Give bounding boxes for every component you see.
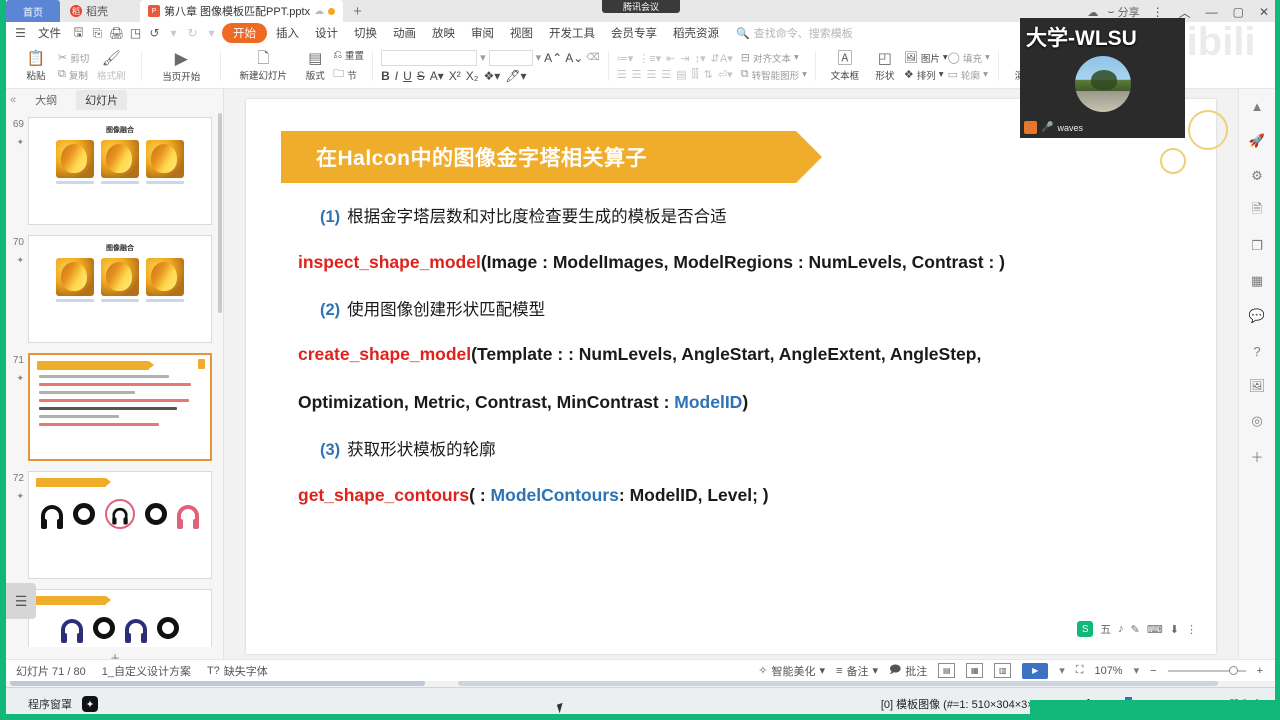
- gear-icon: [93, 617, 115, 639]
- bullets-icon[interactable]: ≔▾: [617, 52, 634, 65]
- slide-thumbnail-70[interactable]: 图像融合: [28, 235, 212, 343]
- thumb-index: 71: [13, 355, 24, 366]
- fit-slide-icon: ⛶: [1076, 664, 1084, 677]
- highlight-icon[interactable]: 🖊▾: [505, 69, 526, 83]
- copy-label: 复制: [69, 68, 88, 82]
- picture-icon: 🖼: [904, 51, 918, 64]
- start-from-current-button[interactable]: ▶ 当页开始: [150, 45, 212, 88]
- save-icon[interactable]: 🖫: [70, 25, 87, 42]
- thumb-title: 图像融合: [29, 243, 211, 253]
- animation-star-icon: ✦: [6, 373, 24, 384]
- ribbon-group-start-show: ▶ 当页开始: [146, 44, 216, 89]
- plus-icon[interactable]: ＋: [1246, 445, 1268, 467]
- thumbnail-pane-header: « 大纲 幻灯片: [6, 89, 223, 111]
- window-edge-left: [0, 0, 6, 720]
- cloud-status[interactable]: ☁: [1087, 6, 1098, 19]
- list-item[interactable]: 69 ✦ 图像融合: [6, 117, 224, 225]
- line-break-icon[interactable]: ⏎▾: [718, 68, 733, 81]
- code-line-get-shape-contours[interactable]: get_shape_contours( : ModelContours: Mod…: [298, 485, 1186, 507]
- decorative-ring: [1160, 148, 1186, 174]
- tab-file-label: 第八章 图像模板匹配PPT.pptx: [164, 3, 310, 19]
- slide-canvas-area: 在Halcon中的图像金字塔相关算子 (1)根据金字塔层数和对比度检查要生成的模…: [224, 89, 1238, 671]
- unsaved-dot-icon: [328, 8, 335, 15]
- list-item[interactable]: 73 ✦: [6, 589, 224, 647]
- thumb-captions: [29, 299, 211, 302]
- ribbon-group-clipboard: 📋 粘贴 ✂剪切 ⧉复制 🖌 格式刷: [10, 44, 137, 89]
- headphone-icon-red: [177, 505, 199, 523]
- view-reading-icon[interactable]: ▥: [994, 663, 1011, 678]
- font-name-dropdown-icon[interactable]: ▾: [480, 51, 486, 64]
- zoom-level-label[interactable]: 107%: [1094, 665, 1122, 677]
- slide-counter[interactable]: 幻灯片 71 / 80: [16, 663, 86, 679]
- layout-icon: ▤: [308, 51, 322, 66]
- paste-button[interactable]: 📋 粘贴: [14, 45, 58, 88]
- tab-slides[interactable]: 幻灯片: [76, 90, 127, 110]
- status-bar: 幻灯片 71 / 80 1_自定义设计方案 T? 缺失字体 ✧智能美化▾ ≡备注…: [6, 659, 1275, 681]
- fill-outline-group: ◯填充▾ ▭轮廓▾: [948, 51, 990, 82]
- thumbnail-scrollbar[interactable]: [218, 113, 222, 313]
- shape-button[interactable]: ◰ 形状: [866, 45, 904, 88]
- slide-thumbnail-71-selected[interactable]: [28, 353, 212, 461]
- headphone-icon: [41, 505, 63, 523]
- redo-icon[interactable]: ↻: [184, 25, 201, 42]
- numbering-icon[interactable]: ⋮≡▾: [638, 52, 661, 65]
- ime-keyboard-icon[interactable]: ⌨: [1147, 623, 1163, 636]
- thumb-banner: [36, 478, 106, 487]
- shrink-font-icon[interactable]: A⌄: [565, 51, 583, 65]
- reset-label: 重置: [345, 48, 364, 62]
- minimize-button[interactable]: —: [1203, 5, 1221, 19]
- sort-icon[interactable]: ⇵A▾: [711, 52, 733, 65]
- ribbon-separator-5: [815, 51, 816, 81]
- tab-outline[interactable]: 大纲: [26, 90, 66, 110]
- decrease-indent-icon[interactable]: ⇤: [666, 52, 675, 65]
- slide-title-banner[interactable]: 在Halcon中的图像金字塔相关算子: [281, 131, 796, 183]
- ime-download-icon[interactable]: ⬇: [1170, 623, 1179, 636]
- status-bar-left: 幻灯片 71 / 80 1_自定义设计方案 T? 缺失字体: [6, 663, 268, 679]
- print-preview-icon[interactable]: ◳: [127, 25, 144, 42]
- superscript-icon[interactable]: X²: [449, 69, 461, 83]
- decorative-ring: [1188, 110, 1228, 150]
- fit-slide-button[interactable]: ⛶: [1076, 664, 1084, 677]
- thumbnail-list[interactable]: 69 ✦ 图像融合 70 ✦: [6, 111, 224, 647]
- shape-label: 形状: [875, 68, 894, 82]
- outline-button[interactable]: ▭轮廓▾: [948, 68, 990, 82]
- beautify-icon: ✧: [758, 664, 767, 677]
- smartart-label: 转智能图形: [752, 68, 800, 82]
- zoom-in-button[interactable]: +: [1257, 665, 1263, 677]
- animation-star-icon: ✦: [6, 137, 24, 148]
- comment-icon: 🗩: [889, 661, 901, 680]
- menu-tab-start[interactable]: 开始: [222, 23, 267, 43]
- thumb-banner: [36, 596, 106, 605]
- scroll-up-icon[interactable]: ▲: [1246, 95, 1268, 117]
- menu-tab-docer-resources[interactable]: 稻壳资源: [666, 23, 726, 43]
- layers-icon[interactable]: ❐: [1246, 235, 1268, 257]
- bullet-line-3[interactable]: (3)获取形状模板的轮廓: [298, 440, 1186, 461]
- align-right-icon[interactable]: ☰: [646, 68, 656, 81]
- bullet-line-1[interactable]: (1)根据金字塔层数和对比度检查要生成的模板是否合适: [298, 207, 1186, 228]
- code-line-create-shape-model[interactable]: create_shape_model(Template : : NumLevel…: [298, 344, 1186, 366]
- mango-image-icon: [146, 140, 184, 178]
- play-circle-icon: ▶: [175, 50, 188, 67]
- function-args-pre: ( :: [469, 485, 490, 505]
- comment-icon[interactable]: 💬: [1246, 305, 1268, 327]
- font-row-bottom: B I U S A▾ X² X₂ ❖▾ 🖊▾: [381, 69, 600, 83]
- ime-toolbar[interactable]: S 五 ♪ ✎ ⌨ ⬇ ⋮: [1072, 618, 1202, 640]
- ribbon-group-slides: 🗋 新建幻灯片 ▤ 版式 ⎌重置 🗀节: [225, 44, 368, 89]
- close-button[interactable]: ✕: [1256, 5, 1272, 19]
- tab-document-file[interactable]: P 第八章 图像模板匹配PPT.pptx ☁: [140, 0, 343, 22]
- align-text-icon: ⊟: [741, 51, 750, 64]
- notes-label: 备注: [846, 663, 868, 679]
- mango-image-icon: [101, 140, 139, 178]
- menu-tab-insert[interactable]: 插入: [269, 23, 306, 43]
- ribbon-separator-2: [220, 51, 221, 81]
- notes-panel-toggle[interactable]: ☰: [6, 583, 36, 619]
- mango-image-icon: [56, 140, 94, 178]
- search-icon: 🔍: [736, 27, 750, 40]
- clear-format-icon[interactable]: ⌫: [586, 52, 599, 63]
- paragraph-row-bottom: ☰ ☰ ☰ ☰ ▤ ⫿⫿ ⇅ ⏎▾: [617, 68, 733, 81]
- thumb-logo-icon: [198, 359, 205, 369]
- more-options-icon[interactable]: ⋮: [1149, 5, 1167, 19]
- reset-button[interactable]: ⎌重置: [333, 48, 364, 62]
- align-text-group: ⊟对齐文本▾ ⧉转智能图形▾: [741, 51, 807, 82]
- shape-icon: ◰: [878, 51, 892, 66]
- undo-icon[interactable]: ↺: [146, 25, 163, 42]
- distribute-icon[interactable]: ▤: [676, 68, 686, 81]
- right-tool-rail: ▲ 🚀 ⚙ 🗎 ❐ ▦ 💬 ? 🖼 ◎ ＋: [1238, 89, 1275, 671]
- slide-thumbnail-73[interactable]: [28, 589, 212, 647]
- ribbon-group-font: ▾ ▾ A⌃ A⌄ ⌫ B I U S A▾ X² X₂ ❖▾ 🖊▾: [377, 44, 604, 89]
- missing-font-button[interactable]: T? 缺失字体: [207, 663, 268, 679]
- fill-icon: ◯: [948, 51, 960, 64]
- table-icon[interactable]: ▦: [1246, 270, 1268, 292]
- gear-icon: [73, 503, 95, 525]
- menu-file[interactable]: 文件: [31, 23, 68, 43]
- increase-indent-icon[interactable]: ⇥: [680, 52, 689, 65]
- thumb-number-70: 70 ✦: [6, 235, 28, 266]
- arrange-button[interactable]: ❖排列▾: [904, 68, 948, 82]
- meeting-indicator[interactable]: 腾讯会议: [602, 0, 680, 13]
- animation-star-icon: ✦: [6, 255, 24, 266]
- outline-icon: ▭: [948, 68, 958, 81]
- function-args: (Template : : NumLevels, AngleStart, Ang…: [471, 344, 981, 364]
- view-sorter-icon[interactable]: ▦: [966, 663, 983, 678]
- bullet-number: (1): [320, 208, 340, 226]
- copy-button[interactable]: ⧉复制: [58, 68, 89, 82]
- thumb-number-69: 69 ✦: [6, 117, 28, 148]
- thumb-captions: [29, 181, 211, 184]
- headphone-icon-blue: [61, 619, 83, 637]
- new-slide-icon: 🗋: [257, 51, 269, 66]
- fill-label: 填充: [963, 51, 982, 65]
- font-controls: ▾ ▾ A⌃ A⌄ ⌫ B I U S A▾ X² X₂ ❖▾ 🖊▾: [381, 50, 600, 83]
- grow-font-icon[interactable]: A⌃: [544, 51, 562, 65]
- function-name: inspect_shape_model: [298, 252, 481, 272]
- notes-button[interactable]: ≡备注▾: [836, 663, 878, 679]
- new-slide-label: 新建幻灯片: [239, 68, 287, 82]
- program-window-label[interactable]: 程序窗罩: [14, 696, 72, 712]
- zoom-slider-knob[interactable]: [1229, 666, 1238, 675]
- menu-tab-animation[interactable]: 动画: [386, 23, 423, 43]
- tab-docer-label: 稻壳: [86, 3, 108, 19]
- thumb-icon-row: [29, 617, 211, 639]
- tab-home-label: 首页: [23, 4, 43, 19]
- ime-pen-icon[interactable]: ✎: [1131, 623, 1140, 636]
- participant-badge-icon: [1024, 121, 1037, 134]
- thumb-images: [29, 140, 211, 178]
- ribbon-separator-6: [998, 51, 999, 81]
- menu-hamburger-icon[interactable]: ☰: [12, 25, 29, 42]
- bullet-number: (3): [320, 441, 340, 459]
- menu-tab-transition[interactable]: 切换: [347, 23, 384, 43]
- new-tab-button[interactable]: +: [343, 3, 372, 22]
- character-shading-icon[interactable]: ❖▾: [483, 69, 500, 83]
- section-reset-group: ⎌重置 🗀节: [333, 48, 364, 84]
- menu-tab-slideshow[interactable]: 放映: [425, 23, 462, 43]
- align-text-label: 对齐文本: [753, 51, 791, 65]
- format-painter-icon: 🖌: [102, 51, 121, 66]
- video-call-overlay[interactable]: 大学-WLSU 🎤 waves: [1020, 18, 1185, 138]
- ribbon-group-paragraph: ≔▾ ⋮≡▾ ⇤ ⇥ ↕▾ ⇵A▾ ☰ ☰ ☰ ☰ ▤ ⫿⫿ ⇅ ⏎▾: [613, 44, 811, 89]
- function-args-post: ): [742, 392, 748, 412]
- microphone-icon[interactable]: 🎤: [1041, 122, 1053, 133]
- thumb-images: [29, 258, 211, 296]
- zoom-out-button[interactable]: −: [1150, 665, 1156, 677]
- cut-icon: ✂: [58, 51, 67, 64]
- align-center-icon[interactable]: ☰: [632, 68, 642, 81]
- sogou-logo-icon: S: [1077, 621, 1093, 637]
- collapse-pane-icon[interactable]: «: [10, 94, 16, 106]
- new-slide-button[interactable]: 🗋 新建幻灯片: [229, 45, 297, 88]
- function-args-pre: Optimization, Metric, Contrast, MinContr…: [298, 392, 674, 412]
- layout-button[interactable]: ▤ 版式: [297, 45, 333, 88]
- bullet-text: 根据金字塔层数和对比度检查要生成的模板是否合适: [347, 208, 727, 226]
- copy-icon: ⧉: [58, 68, 66, 81]
- notes-icon: ≡: [836, 665, 842, 677]
- halcon-logo-icon: [82, 696, 98, 712]
- align-left-icon[interactable]: ☰: [617, 68, 627, 81]
- save-as-icon[interactable]: ⎘: [89, 25, 106, 42]
- video-participant-title: 大学-WLSU: [1020, 22, 1185, 52]
- thumb-index: 69: [13, 119, 24, 130]
- thumb-number-71: 71 ✦: [6, 353, 28, 384]
- function-name: get_shape_contours: [298, 485, 469, 505]
- help-icon[interactable]: ?: [1246, 340, 1268, 362]
- clipboard-small-buttons: ✂剪切 ⧉复制: [58, 51, 89, 82]
- thumb-index: 72: [13, 473, 24, 484]
- video-footer: 🎤 waves: [1024, 121, 1083, 134]
- rocket-icon[interactable]: 🚀: [1246, 130, 1268, 152]
- thumb-title: 图像融合: [29, 125, 211, 135]
- layout-label: 版式: [306, 68, 325, 82]
- align-text-button[interactable]: ⊟对齐文本▾: [741, 51, 807, 65]
- tab-docer[interactable]: 稻 稻壳: [60, 0, 118, 22]
- columns-icon[interactable]: ⫿⫿: [692, 68, 699, 81]
- font-size-dropdown-icon[interactable]: ▾: [536, 51, 542, 64]
- arrange-label: 排列: [917, 68, 936, 82]
- video-user-name: waves: [1057, 123, 1083, 133]
- line-spacing-icon[interactable]: ↕▾: [695, 52, 706, 65]
- gear-icon: [145, 503, 167, 525]
- thumb-icon-row: [29, 499, 211, 529]
- arrange-icon: ❖: [904, 68, 914, 81]
- view-normal-icon[interactable]: ▤: [938, 663, 955, 678]
- search-placeholder: 查找命令、搜索模板: [754, 25, 853, 41]
- missing-font-label: 缺失字体: [224, 663, 268, 679]
- paste-icon: 📋: [27, 51, 46, 66]
- page-title: 在Halcon中的图像金字塔相关算子: [316, 142, 647, 172]
- gear-icon: [157, 617, 179, 639]
- strikethrough-icon[interactable]: S: [417, 69, 425, 83]
- play-dropdown-icon[interactable]: ▾: [1059, 664, 1065, 677]
- bullet-text: 使用图像创建形状匹配模型: [347, 301, 545, 319]
- text-color-icon[interactable]: A▾: [430, 69, 444, 83]
- font-name-input[interactable]: [381, 50, 477, 66]
- slide-thumbnail-69[interactable]: 图像融合: [28, 117, 212, 225]
- command-search-box[interactable]: 🔍 查找命令、搜索模板: [736, 25, 853, 41]
- animation-star-icon: ✦: [6, 491, 24, 502]
- cut-button[interactable]: ✂剪切: [58, 51, 89, 65]
- function-args-post: : ModelID, Level; ): [619, 485, 769, 505]
- status-bar-right: ✧智能美化▾ ≡备注▾ 🗩批注 ▤ ▦ ▥ ▶ ▾ ⛶ 107% ▾ − +: [758, 661, 1275, 680]
- pptx-file-icon: P: [148, 5, 160, 17]
- mango-image-icon: [101, 258, 139, 296]
- format-painter-label: 格式刷: [97, 68, 126, 82]
- comments-button[interactable]: 🗩批注: [889, 661, 927, 680]
- ribbon-separator-3: [372, 51, 373, 81]
- reset-icon: ⎌: [333, 49, 342, 62]
- comments-label: 批注: [905, 663, 927, 679]
- image-icon[interactable]: 🖼: [1246, 375, 1268, 397]
- ribbon-group-insert: 🄰 文本框 ◰ 形状 🖼图片▾ ❖排列▾ ◯填充▾ ▭轮廓▾: [820, 44, 994, 89]
- target-icon[interactable]: ◎: [1246, 410, 1268, 432]
- section-icon: 🗀: [333, 65, 344, 84]
- slide-body: (1)根据金字塔层数和对比度检查要生成的模板是否合适 inspect_shape…: [276, 207, 1186, 506]
- slide-thumbnail-72[interactable]: [28, 471, 212, 579]
- picture-label: 图片: [921, 51, 940, 65]
- output-param-modelid: ModelID: [674, 392, 742, 412]
- halcon-strip-left: 程序窗罩: [0, 696, 98, 712]
- text-box-label: 文本框: [831, 68, 860, 82]
- ime-more-icon[interactable]: ⋮: [1186, 623, 1197, 636]
- list-item[interactable]: 71 ✦: [6, 353, 224, 461]
- italic-icon[interactable]: I: [395, 69, 398, 83]
- maximize-button[interactable]: ▢: [1230, 5, 1247, 19]
- font-row-top: ▾ ▾ A⌃ A⌄ ⌫: [381, 50, 600, 66]
- menu-tab-review[interactable]: 审阅: [464, 23, 501, 43]
- text-box-button[interactable]: 🄰 文本框: [824, 45, 866, 88]
- print-icon[interactable]: 🖨: [108, 25, 125, 42]
- wps-presentation-window: 首页 稻 稻壳 P 第八章 图像模板匹配PPT.pptx ☁ + ☁ ⌣ 分享 …: [0, 0, 1280, 720]
- paste-label: 粘贴: [26, 68, 45, 82]
- ime-music-icon[interactable]: ♪: [1118, 623, 1124, 635]
- headphone-icon: [112, 508, 127, 521]
- menu-tab-developer[interactable]: 开发工具: [542, 23, 602, 43]
- ribbon-separator-4: [608, 51, 609, 81]
- menu-tab-design[interactable]: 设计: [308, 23, 345, 43]
- justify-icon[interactable]: ☰: [661, 68, 671, 81]
- start-from-current-label: 当页开始: [162, 69, 200, 83]
- play-slideshow-button[interactable]: ▶: [1022, 663, 1048, 679]
- font-warning-icon: T?: [207, 665, 220, 677]
- text-box-icon: 🄰: [837, 51, 852, 66]
- mango-image-icon: [146, 258, 184, 296]
- ime-mode-label[interactable]: 五: [1100, 621, 1111, 637]
- underline-icon[interactable]: U: [403, 69, 412, 83]
- slide-thumbnail-pane: « 大纲 幻灯片 69 ✦ 图像融合: [6, 89, 224, 671]
- function-args: (Image : ModelImages, ModelRegions : Num…: [481, 252, 1005, 272]
- docer-icon: 稻: [70, 5, 82, 17]
- section-label: 节: [347, 68, 357, 82]
- smartart-icon: ⧉: [741, 68, 749, 81]
- menu-tab-member[interactable]: 会员专享: [604, 23, 664, 43]
- menu-tab-view[interactable]: 视图: [503, 23, 540, 43]
- match-ring-icon: [105, 499, 135, 529]
- headphone-icon-blue: [125, 619, 147, 637]
- settings-slider-icon[interactable]: ⚙: [1246, 165, 1268, 187]
- undo-dropdown-icon[interactable]: ▾: [165, 25, 182, 42]
- thumb-index: 70: [13, 237, 24, 248]
- design-scheme-label[interactable]: 1_自定义设计方案: [102, 663, 191, 679]
- code-line-inspect-shape-model[interactable]: inspect_shape_model(Image : ModelImages,…: [298, 252, 1186, 274]
- cut-label: 剪切: [70, 51, 89, 65]
- bullet-text: 获取形状模板的轮廓: [347, 441, 496, 459]
- bold-icon[interactable]: B: [381, 69, 390, 83]
- window-edge-bottom: [0, 714, 1280, 720]
- cloud-sync-icon[interactable]: ☁: [314, 6, 324, 17]
- code-line-create-shape-model-cont[interactable]: Optimization, Metric, Contrast, MinContr…: [298, 392, 1186, 414]
- section-button[interactable]: 🗀节: [333, 65, 364, 84]
- output-param-modelcontours: ModelContours: [491, 485, 619, 505]
- thumb-number-72: 72 ✦: [6, 471, 28, 502]
- list-item[interactable]: 72 ✦: [6, 471, 224, 579]
- zoom-slider[interactable]: [1168, 670, 1246, 672]
- ribbon-separator: [141, 51, 142, 81]
- smartart-button[interactable]: ⧉转智能图形▾: [741, 68, 807, 82]
- thumb-banner: [37, 361, 149, 370]
- font-size-input[interactable]: [489, 50, 533, 66]
- beautify-label: 智能美化: [772, 663, 816, 679]
- tab-home[interactable]: 首页: [6, 0, 60, 22]
- picture-button[interactable]: 🖼图片▾: [904, 51, 948, 65]
- paragraph-row-top: ≔▾ ⋮≡▾ ⇤ ⇥ ↕▾ ⇵A▾: [617, 52, 733, 65]
- bullet-number: (2): [320, 301, 340, 319]
- fill-button[interactable]: ◯填充▾: [948, 51, 990, 65]
- customize-quick-access-icon[interactable]: ▾: [203, 25, 220, 42]
- mango-image-icon: [56, 258, 94, 296]
- picture-fill-group: 🖼图片▾ ❖排列▾: [904, 51, 948, 82]
- outline-label: 轮廓: [961, 68, 980, 82]
- avatar: [1075, 56, 1131, 112]
- zoom-dropdown-icon[interactable]: ▾: [1134, 664, 1140, 677]
- bullet-line-2[interactable]: (2)使用图像创建形状匹配模型: [298, 300, 1186, 321]
- format-painter-button[interactable]: 🖌 格式刷: [89, 45, 133, 88]
- list-item[interactable]: 70 ✦ 图像融合: [6, 235, 224, 343]
- document-icon[interactable]: 🗎: [1246, 200, 1268, 222]
- slide-editor[interactable]: 在Halcon中的图像金字塔相关算子 (1)根据金字塔层数和对比度检查要生成的模…: [246, 99, 1216, 654]
- paragraph-controls: ≔▾ ⋮≡▾ ⇤ ⇥ ↕▾ ⇵A▾ ☰ ☰ ☰ ☰ ▤ ⫿⫿ ⇅ ⏎▾: [617, 52, 733, 81]
- function-name: create_shape_model: [298, 344, 471, 364]
- text-direction-icon[interactable]: ⇅: [704, 68, 713, 81]
- window-edge-right: [1275, 0, 1280, 700]
- beautify-button[interactable]: ✧智能美化▾: [758, 663, 825, 679]
- subscript-icon[interactable]: X₂: [466, 69, 479, 83]
